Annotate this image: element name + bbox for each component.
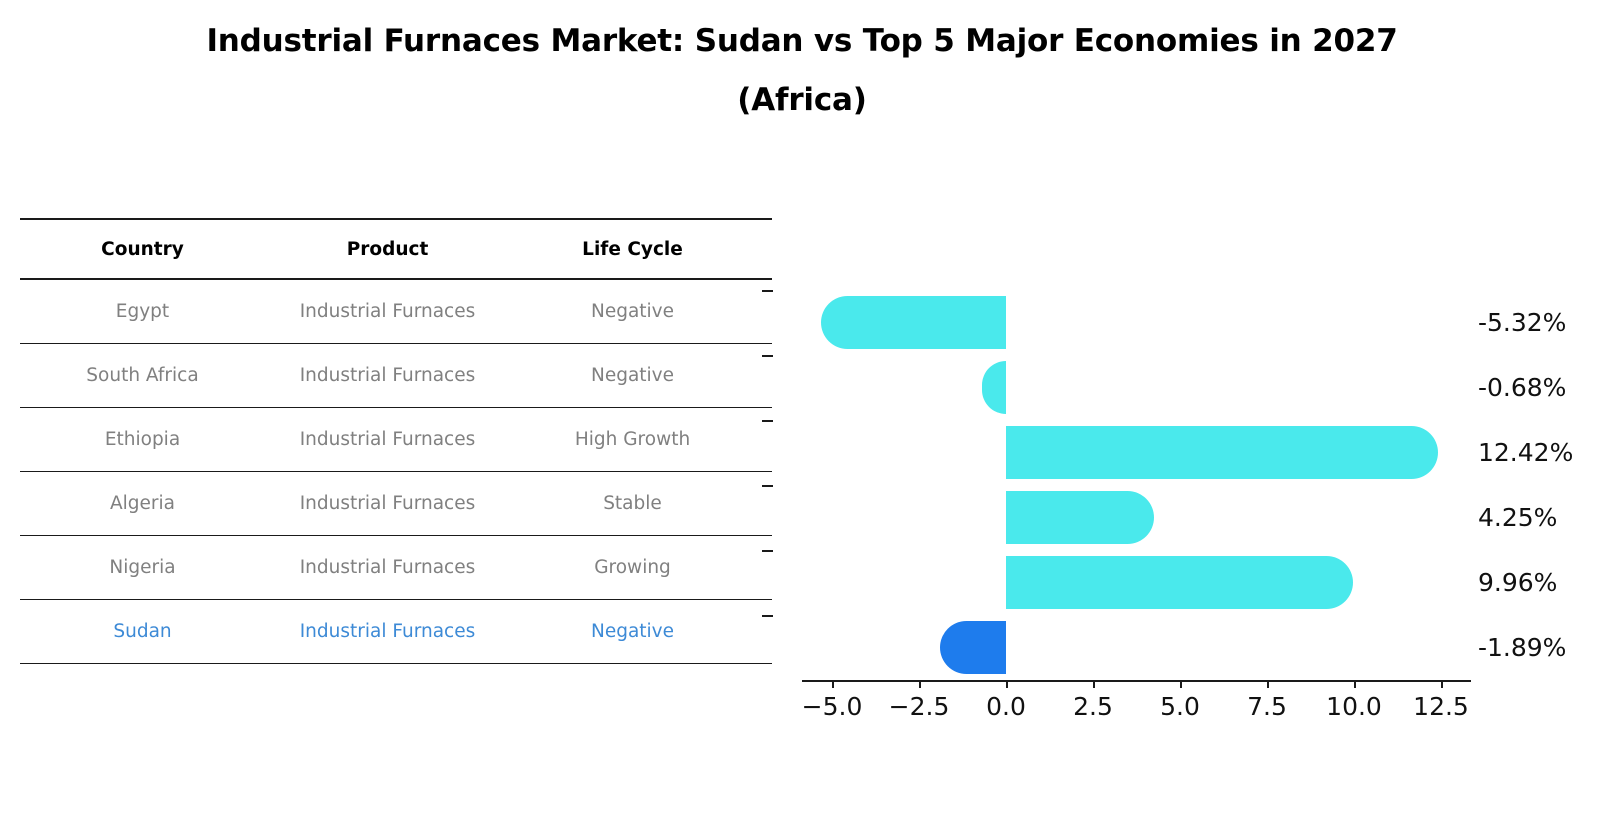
cell-country: Egypt: [20, 301, 265, 322]
bar-value-label: 9.96%: [1478, 550, 1557, 615]
cell-country: Sudan: [20, 621, 265, 642]
bar-south-africa[interactable]: [982, 361, 1006, 414]
x-axis-tick: [1180, 680, 1182, 688]
bar-value-label: -1.89%: [1478, 615, 1566, 680]
table-row[interactable]: Egypt Industrial Furnaces Negative: [20, 280, 772, 343]
cell-country: Ethiopia: [20, 429, 265, 450]
cell-product: Industrial Furnaces: [265, 365, 510, 386]
chart-title-line-1: Industrial Furnaces Market: Sudan vs Top…: [0, 12, 1604, 71]
x-axis-tick: [1093, 680, 1095, 688]
cell-country: South Africa: [20, 365, 265, 386]
x-axis-tick-label: 12.5: [1413, 692, 1469, 721]
bar-ethiopia[interactable]: [1006, 426, 1438, 479]
table-bottom-rule: [20, 663, 772, 664]
plot-area: -5.32% -0.68% 12.42% 4.25% 9.96% -1.89%: [778, 290, 1478, 680]
bar-row-south-africa: -0.68%: [778, 355, 1478, 420]
bar-value-label: 12.42%: [1478, 420, 1573, 485]
x-axis-tick: [832, 680, 834, 688]
table-row[interactable]: Ethiopia Industrial Furnaces High Growth: [20, 408, 772, 471]
chart-title: Industrial Furnaces Market: Sudan vs Top…: [0, 12, 1604, 130]
bar-row-algeria: 4.25%: [778, 485, 1478, 550]
x-axis-tick: [919, 680, 921, 688]
bar-value-label: -0.68%: [1478, 355, 1566, 420]
x-axis-tick-label: −5.0: [802, 692, 863, 721]
cell-country: Algeria: [20, 493, 265, 514]
cell-product: Industrial Furnaces: [265, 557, 510, 578]
cell-product: Industrial Furnaces: [265, 493, 510, 514]
x-axis-tick-label: 10.0: [1326, 692, 1382, 721]
bar-nigeria[interactable]: [1006, 556, 1353, 609]
cell-country: Nigeria: [20, 557, 265, 578]
cell-life-cycle: Negative: [510, 301, 755, 322]
x-axis: −5.0−2.50.02.55.07.510.012.5: [802, 680, 1471, 740]
table-row[interactable]: Algeria Industrial Furnaces Stable: [20, 472, 772, 535]
table-header-row: Country Product Life Cycle: [20, 220, 772, 278]
table-row-highlighted[interactable]: Sudan Industrial Furnaces Negative: [20, 600, 772, 663]
x-axis-tick-label: 5.0: [1160, 692, 1200, 721]
column-header-product: Product: [265, 239, 510, 260]
bar-value-label: 4.25%: [1478, 485, 1557, 550]
column-header-life-cycle: Life Cycle: [510, 239, 755, 260]
cell-product: Industrial Furnaces: [265, 621, 510, 642]
cell-life-cycle: High Growth: [510, 429, 755, 450]
x-axis-tick: [1354, 680, 1356, 688]
bar-row-sudan: -1.89%: [778, 615, 1478, 680]
table-row[interactable]: South Africa Industrial Furnaces Negativ…: [20, 344, 772, 407]
column-header-country: Country: [20, 239, 265, 260]
x-axis-tick-label: 7.5: [1247, 692, 1287, 721]
bar-value-label: -5.32%: [1478, 290, 1566, 355]
cell-life-cycle: Negative: [510, 365, 755, 386]
bar-sudan-highlighted[interactable]: [940, 621, 1006, 674]
x-axis-tick: [1006, 680, 1008, 688]
cell-life-cycle: Stable: [510, 493, 755, 514]
x-axis-tick-label: 2.5: [1073, 692, 1113, 721]
cell-product: Industrial Furnaces: [265, 301, 510, 322]
x-axis-tick-label: 0.0: [986, 692, 1026, 721]
cell-life-cycle: Growing: [510, 557, 755, 578]
cell-product: Industrial Furnaces: [265, 429, 510, 450]
table-row[interactable]: Nigeria Industrial Furnaces Growing: [20, 536, 772, 599]
bar-algeria[interactable]: [1006, 491, 1154, 544]
x-axis-tick: [1267, 680, 1269, 688]
country-comparison-table: Country Product Life Cycle Egypt Industr…: [20, 218, 772, 664]
x-axis-line: [802, 680, 1471, 682]
cell-life-cycle: Negative: [510, 621, 755, 642]
bar-row-nigeria: 9.96%: [778, 550, 1478, 615]
bar-egypt[interactable]: [821, 296, 1006, 349]
x-axis-tick: [1441, 680, 1443, 688]
chart-title-line-2: (Africa): [0, 71, 1604, 130]
x-axis-tick-label: −2.5: [889, 692, 950, 721]
bar-row-egypt: -5.32%: [778, 290, 1478, 355]
bar-row-ethiopia: 12.42%: [778, 420, 1478, 485]
